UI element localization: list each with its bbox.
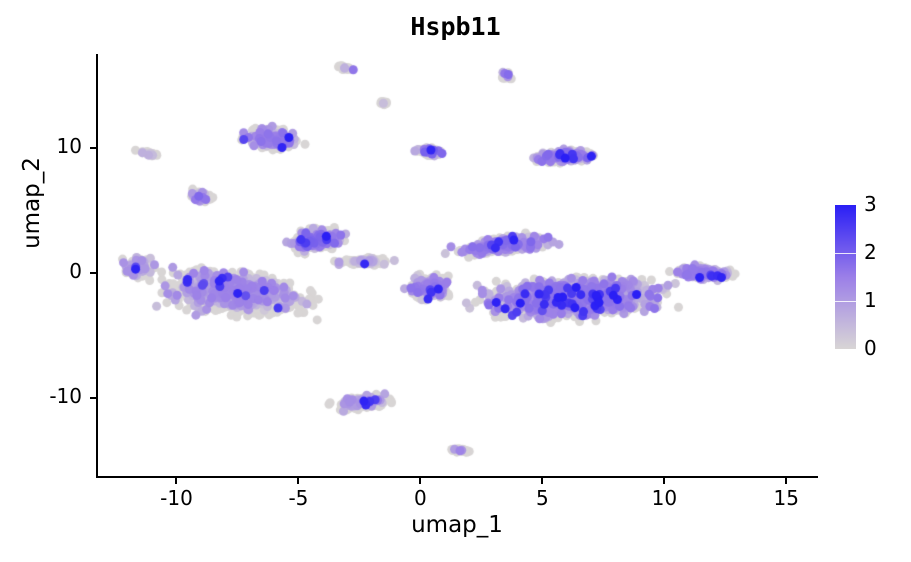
x-axis-label: umap_1 bbox=[96, 512, 818, 538]
colorbar-tick-label: 3 bbox=[864, 192, 904, 216]
colorbar-tick-label: 2 bbox=[864, 240, 904, 264]
umap-feature-plot-figure: Hspb11 -10-5051015 100-10 umap_1 umap_2 … bbox=[0, 0, 911, 562]
colorbar-tick-label: 1 bbox=[864, 288, 904, 312]
x-tick-label: 5 bbox=[512, 486, 572, 510]
colorbar-gradient bbox=[835, 205, 856, 349]
colorbar bbox=[835, 205, 856, 349]
x-tick-label: 15 bbox=[756, 486, 816, 510]
x-tick-mark bbox=[419, 478, 421, 484]
x-tick-mark bbox=[785, 478, 787, 484]
x-tick-mark bbox=[541, 478, 543, 484]
x-tick-mark bbox=[663, 478, 665, 484]
colorbar-tick-label: 0 bbox=[864, 336, 904, 360]
y-tick-label: -10 bbox=[18, 384, 82, 408]
x-tick-label: -5 bbox=[268, 486, 328, 510]
x-tick-label: -10 bbox=[146, 486, 206, 510]
x-tick-mark bbox=[297, 478, 299, 484]
x-tick-mark bbox=[175, 478, 177, 484]
x-tick-label: 10 bbox=[634, 486, 694, 510]
y-tick-mark bbox=[90, 147, 96, 149]
axes-frame bbox=[96, 54, 818, 478]
y-tick-mark bbox=[90, 272, 96, 274]
page-title: Hspb11 bbox=[0, 12, 911, 41]
y-tick-mark bbox=[90, 397, 96, 399]
colorbar-tick-mark bbox=[835, 253, 856, 254]
colorbar-tick-mark bbox=[835, 301, 856, 302]
x-tick-label: 0 bbox=[390, 486, 450, 510]
y-axis-label: umap_2 bbox=[19, 93, 45, 313]
